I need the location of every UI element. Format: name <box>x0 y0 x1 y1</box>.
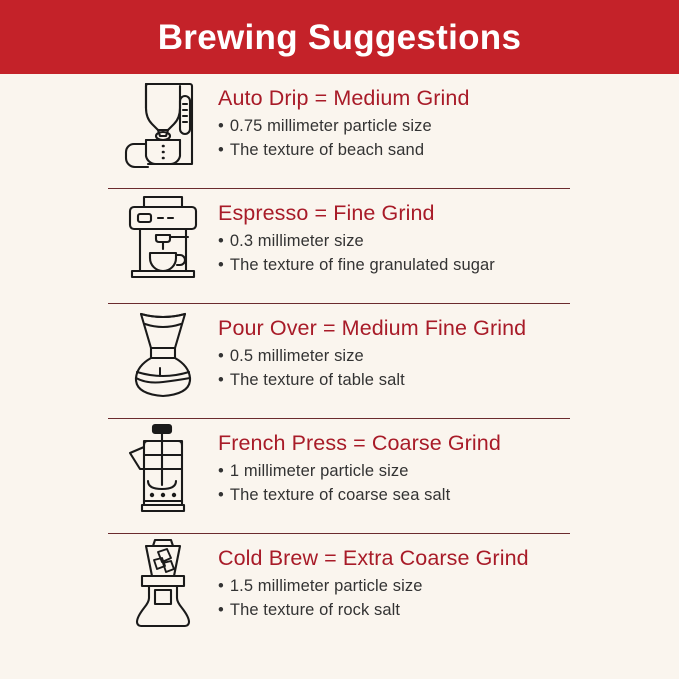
header-banner: Brewing Suggestions <box>0 0 679 74</box>
bullet-item: The texture of coarse sea salt <box>218 484 679 508</box>
bullet-item: The texture of rock salt <box>218 599 679 623</box>
cold-brew-icon <box>108 534 218 630</box>
section-bullets: 0.3 millimeter size The texture of fine … <box>218 230 679 278</box>
brewing-suggestions-infographic: Brewing Suggestions <box>0 0 679 679</box>
pour-over-chemex-icon <box>108 304 218 400</box>
section-text: French Press = Coarse Grind 1 millimeter… <box>218 419 679 508</box>
section-title: Cold Brew = Extra Coarse Grind <box>218 546 679 571</box>
section-title: French Press = Coarse Grind <box>218 431 679 456</box>
bullet-item: 0.75 millimeter particle size <box>218 115 679 139</box>
section-pour-over: Pour Over = Medium Fine Grind 0.5 millim… <box>0 304 679 419</box>
bullet-item: 0.5 millimeter size <box>218 345 679 369</box>
bullet-item: The texture of fine granulated sugar <box>218 254 679 278</box>
french-press-icon <box>108 419 218 515</box>
bullet-item: The texture of table salt <box>218 369 679 393</box>
page-title: Brewing Suggestions <box>158 20 522 55</box>
espresso-machine-icon <box>108 189 218 279</box>
section-title: Pour Over = Medium Fine Grind <box>218 316 679 341</box>
section-text: Pour Over = Medium Fine Grind 0.5 millim… <box>218 304 679 393</box>
auto-drip-coffee-maker-icon <box>108 74 218 170</box>
bullet-item: 1 millimeter particle size <box>218 460 679 484</box>
section-title: Auto Drip = Medium Grind <box>218 86 679 111</box>
section-text: Auto Drip = Medium Grind 0.75 millimeter… <box>218 74 679 163</box>
section-bullets: 0.5 millimeter size The texture of table… <box>218 345 679 393</box>
section-cold-brew: Cold Brew = Extra Coarse Grind 1.5 milli… <box>0 534 679 649</box>
section-text: Espresso = Fine Grind 0.3 millimeter siz… <box>218 189 679 278</box>
section-french-press: French Press = Coarse Grind 1 millimeter… <box>0 419 679 534</box>
bullet-item: The texture of beach sand <box>218 139 679 163</box>
bullet-item: 1.5 millimeter particle size <box>218 575 679 599</box>
section-text: Cold Brew = Extra Coarse Grind 1.5 milli… <box>218 534 679 623</box>
sections-list: Auto Drip = Medium Grind 0.75 millimeter… <box>0 74 679 649</box>
section-title: Espresso = Fine Grind <box>218 201 679 226</box>
section-bullets: 0.75 millimeter particle size The textur… <box>218 115 679 163</box>
section-auto-drip: Auto Drip = Medium Grind 0.75 millimeter… <box>0 74 679 189</box>
section-bullets: 1.5 millimeter particle size The texture… <box>218 575 679 623</box>
section-espresso: Espresso = Fine Grind 0.3 millimeter siz… <box>0 189 679 304</box>
bullet-item: 0.3 millimeter size <box>218 230 679 254</box>
section-bullets: 1 millimeter particle size The texture o… <box>218 460 679 508</box>
